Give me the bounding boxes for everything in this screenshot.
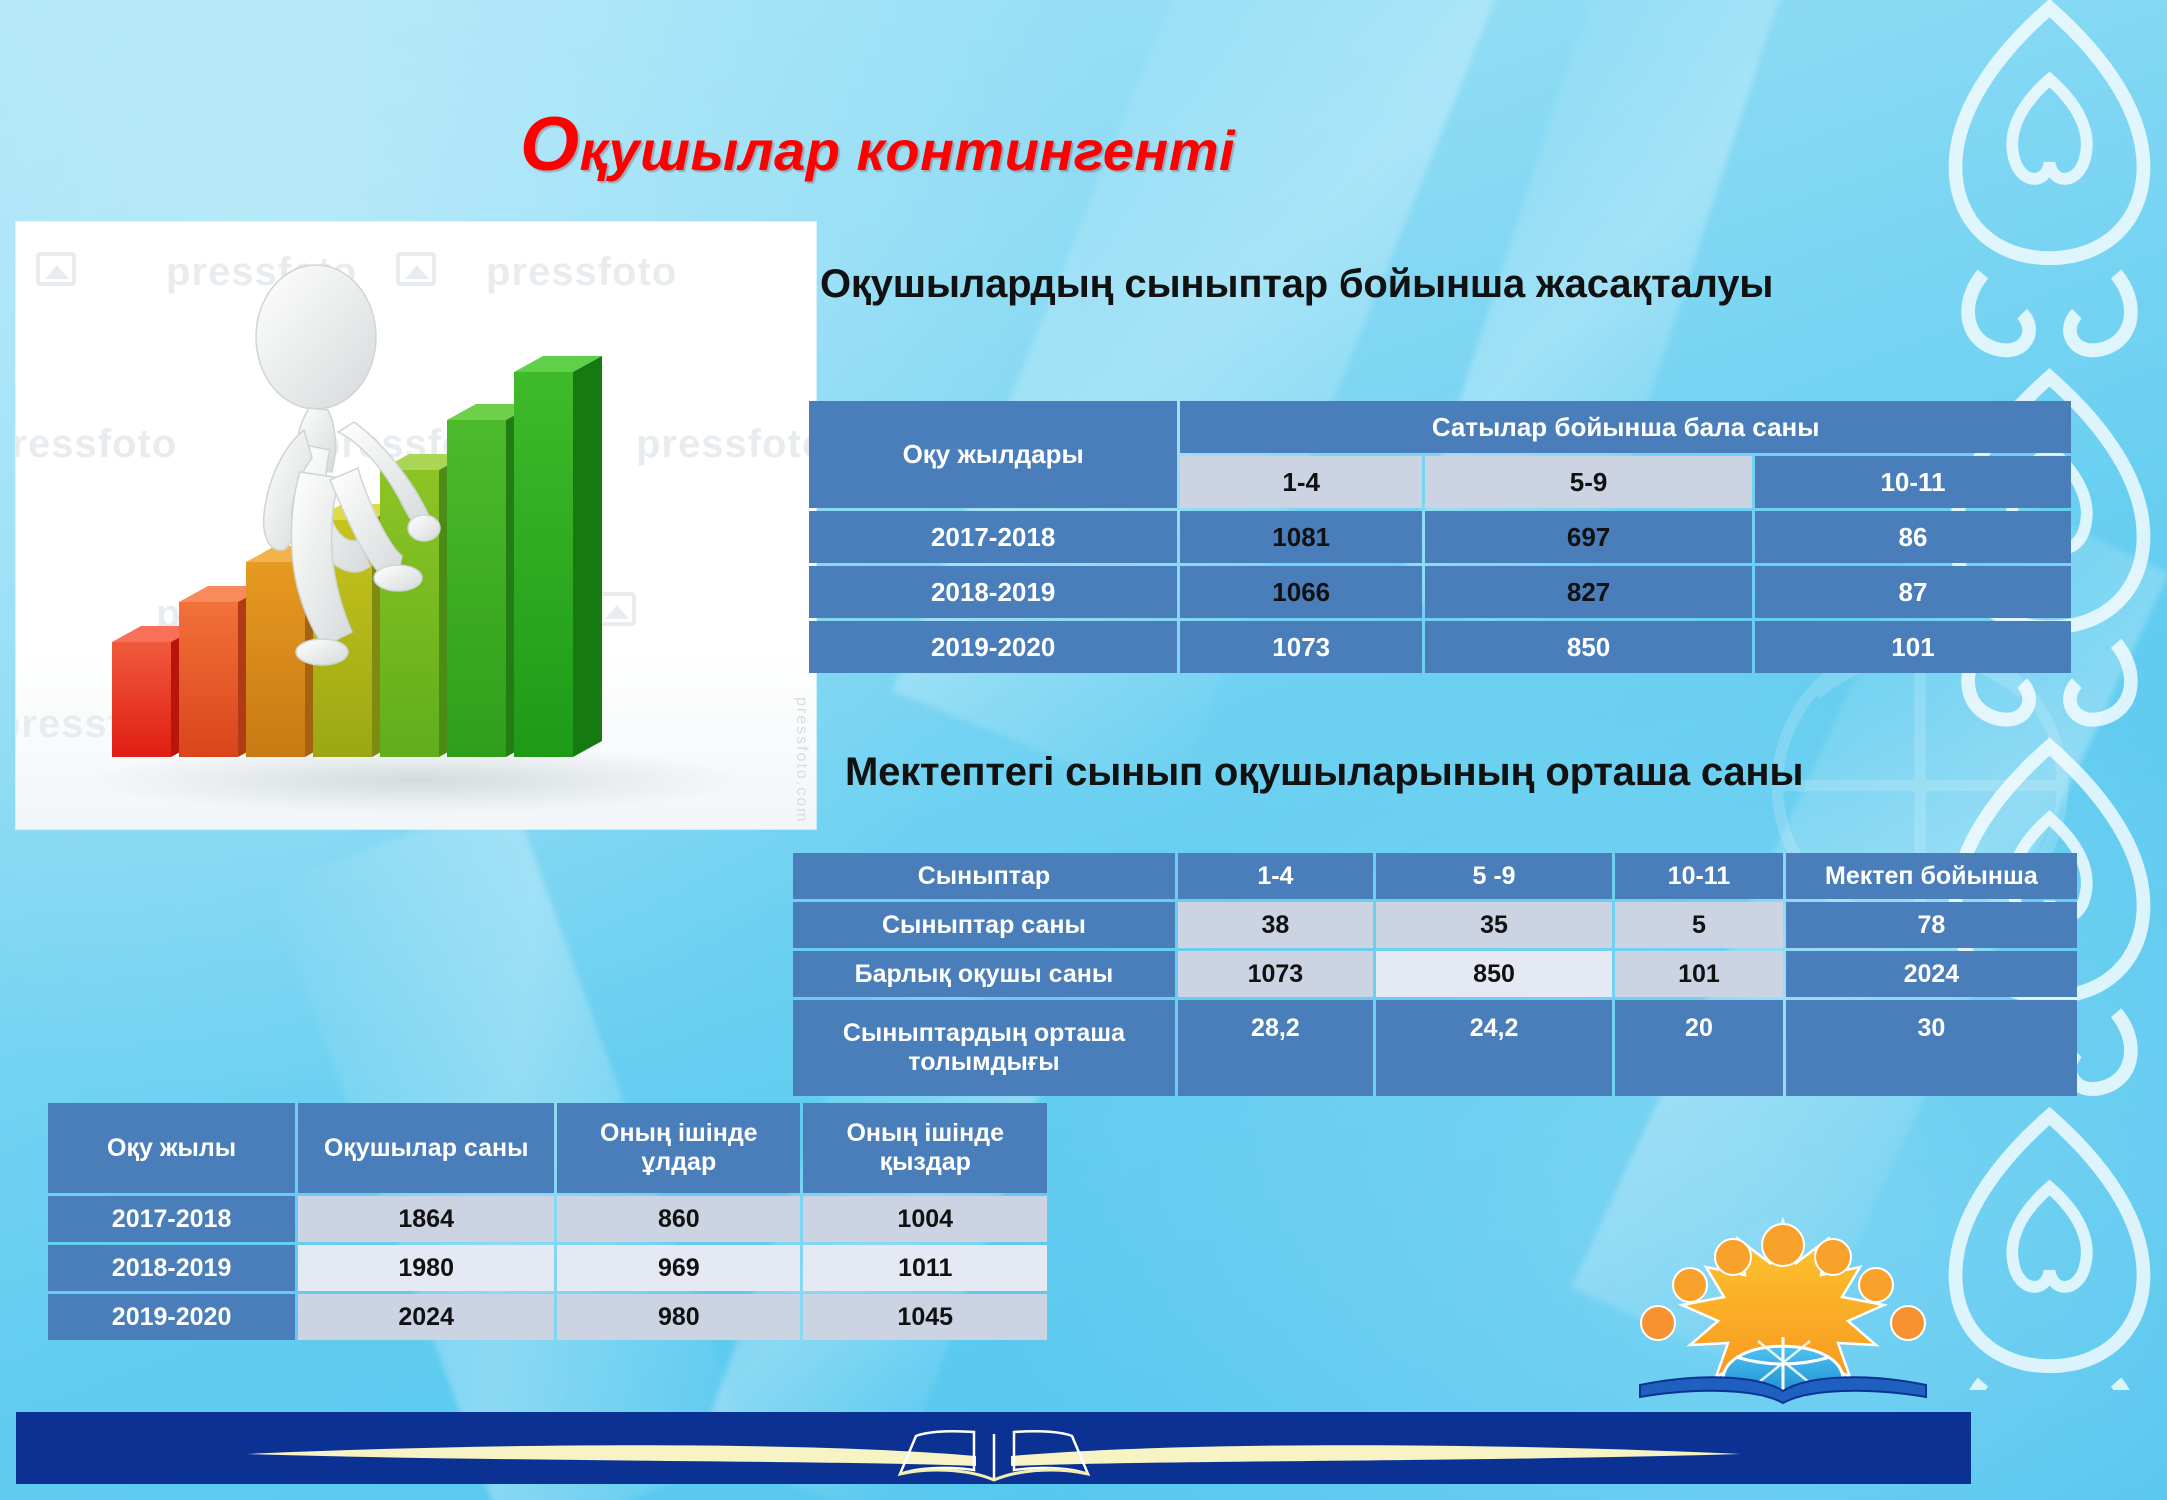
page-title-initial: О <box>520 102 580 187</box>
section-heading-classes-distribution: Оқушылардың сыныптар бойынша жасақталуы <box>820 262 1773 307</box>
table2-row2-label: Сыныптардың орташа толымдығы <box>793 1000 1175 1096</box>
table2-row1-c3: 101 <box>1615 951 1783 997</box>
table2-row2-c3: 20 <box>1615 1000 1783 1096</box>
table1-row0-year: 2017-2018 <box>809 511 1177 563</box>
table1-row1-c1: 1066 <box>1180 566 1422 618</box>
table-row-header: Оқу жылы Оқушылар саны Оның ішінде ұлдар… <box>48 1103 1047 1193</box>
table3-row1-year: 2018-2019 <box>48 1245 295 1291</box>
table1-subheader-1-4: 1-4 <box>1180 456 1422 508</box>
table3-row2-girls: 1045 <box>803 1294 1047 1340</box>
table1-row0-c2: 697 <box>1425 511 1752 563</box>
table2-grid: Сыныптар 1-4 5 -9 10-11 Мектеп бойынша С… <box>790 850 2080 1099</box>
table2-header-classes: Сыныптар <box>793 853 1175 899</box>
table3-row0-total: 1864 <box>298 1196 554 1242</box>
table1-row1-year: 2018-2019 <box>809 566 1177 618</box>
table2-row1-c1: 1073 <box>1178 951 1373 997</box>
table1-row1-c3: 87 <box>1755 566 2071 618</box>
table-row: Сыныптар саны 38 35 5 78 <box>793 902 2077 948</box>
table1-row2-c3: 101 <box>1755 621 2071 673</box>
kazakh-ornament-icon <box>1932 0 2167 1390</box>
table3-row1-boys: 969 <box>557 1245 800 1291</box>
table1-row1-c2: 827 <box>1425 566 1752 618</box>
table-students-by-gender: Оқу жылы Оқушылар саны Оның ішінде ұлдар… <box>45 1100 1050 1343</box>
table-row: 2018-2019 1066 827 87 <box>809 566 2071 618</box>
table3-header-girls: Оның ішінде қыздар <box>803 1103 1047 1193</box>
table2-row2-c4: 30 <box>1786 1000 2077 1096</box>
table1-header-year: Оқу жылдары <box>809 401 1177 508</box>
table-students-by-level: Оқу жылдары Сатылар бойынша бала саны 1-… <box>806 398 2074 676</box>
table2-row0-c4: 78 <box>1786 902 2077 948</box>
table1-subheader-10-11: 10-11 <box>1755 456 2071 508</box>
table1-grid: Оқу жылдары Сатылар бойынша бала саны 1-… <box>806 398 2074 676</box>
table-row-header: Сыныптар 1-4 5 -9 10-11 Мектеп бойынша <box>793 853 2077 899</box>
table2-header-1-4: 1-4 <box>1178 853 1373 899</box>
table3-row0-boys: 860 <box>557 1196 800 1242</box>
page-title-rest: қушылар контингенті <box>580 119 1235 182</box>
table-row: Барлық оқушы саны 1073 850 101 2024 <box>793 951 2077 997</box>
table-average-class-size: Сыныптар 1-4 5 -9 10-11 Мектеп бойынша С… <box>790 850 2080 1099</box>
table3-row2-boys: 980 <box>557 1294 800 1340</box>
table1-subheader-5-9: 5-9 <box>1425 456 1752 508</box>
table2-row2-c2: 24,2 <box>1376 1000 1612 1096</box>
footer-book-wing-icon <box>16 1412 1971 1484</box>
table-row: Сыныптардың орташа толымдығы 28,2 24,2 2… <box>793 1000 2077 1096</box>
table1-header-group: Сатылар бойынша бала саны <box>1180 401 2071 453</box>
table-row: 2018-2019 1980 969 1011 <box>48 1245 1047 1291</box>
table3-row1-total: 1980 <box>298 1245 554 1291</box>
slide-root: Оқушылар контингенті pressfoto pressfoto… <box>0 0 2167 1500</box>
table-row: 2017-2018 1081 697 86 <box>809 511 2071 563</box>
school-logo-icon <box>1628 1205 1938 1420</box>
table3-header-total: Оқушылар саны <box>298 1103 554 1193</box>
table3-header-year: Оқу жылы <box>48 1103 295 1193</box>
table3-row0-girls: 1004 <box>803 1196 1047 1242</box>
bar-chart-illustration-icon <box>16 222 816 829</box>
table-row: 2019-2020 2024 980 1045 <box>48 1294 1047 1340</box>
table2-header-10-11: 10-11 <box>1615 853 1783 899</box>
table1-row2-year: 2019-2020 <box>809 621 1177 673</box>
bar-chart-photo: pressfoto pressfoto pressfoto pressfoto … <box>16 222 816 829</box>
table3-header-boys: Оның ішінде ұлдар <box>557 1103 800 1193</box>
table3-row0-year: 2017-2018 <box>48 1196 295 1242</box>
table1-row0-c1: 1081 <box>1180 511 1422 563</box>
table2-row1-c2: 850 <box>1376 951 1612 997</box>
table2-header-5-9: 5 -9 <box>1376 853 1612 899</box>
table-row: 2019-2020 1073 850 101 <box>809 621 2071 673</box>
table1-row0-c3: 86 <box>1755 511 2071 563</box>
table2-header-school: Мектеп бойынша <box>1786 853 2077 899</box>
table2-row0-c3: 5 <box>1615 902 1783 948</box>
table3-row2-total: 2024 <box>298 1294 554 1340</box>
table2-row0-c1: 38 <box>1178 902 1373 948</box>
page-title: Оқушылар контингенті <box>520 118 1235 183</box>
table-row: 2017-2018 1864 860 1004 <box>48 1196 1047 1242</box>
footer-bar <box>16 1412 1971 1484</box>
table2-row0-label: Сыныптар саны <box>793 902 1175 948</box>
table2-row2-c1: 28,2 <box>1178 1000 1373 1096</box>
section-heading-average-class-size: Мектептегі сынып оқушыларының орташа сан… <box>845 750 1803 795</box>
table2-row1-label: Барлық оқушы саны <box>793 951 1175 997</box>
table2-row0-c2: 35 <box>1376 902 1612 948</box>
table-row-header: Оқу жылдары Сатылар бойынша бала саны <box>809 401 2071 453</box>
table1-row2-c1: 1073 <box>1180 621 1422 673</box>
table1-row2-c2: 850 <box>1425 621 1752 673</box>
table3-grid: Оқу жылы Оқушылар саны Оның ішінде ұлдар… <box>45 1100 1050 1343</box>
table3-row2-year: 2019-2020 <box>48 1294 295 1340</box>
table3-row1-girls: 1011 <box>803 1245 1047 1291</box>
table2-row1-c4: 2024 <box>1786 951 2077 997</box>
